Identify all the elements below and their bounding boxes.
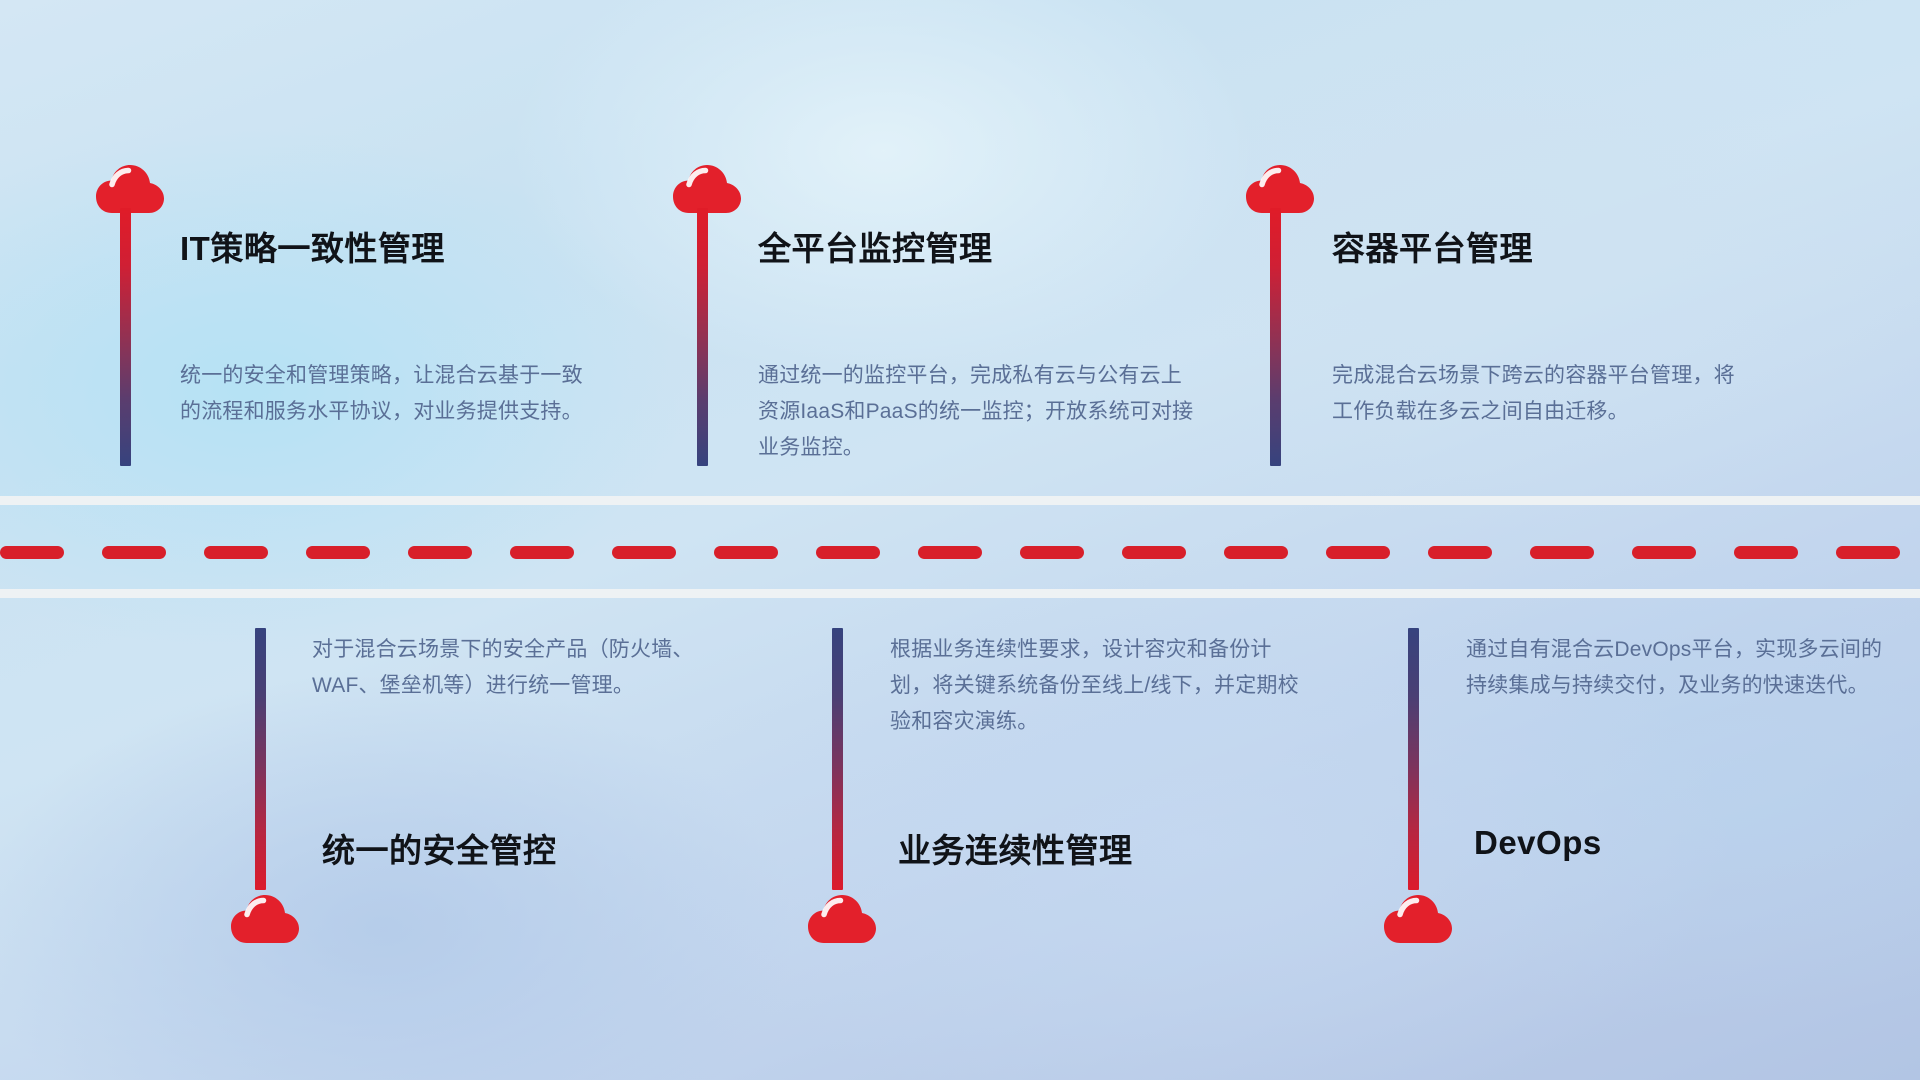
bottom-heading-1: 统一的安全管控 [322,824,557,872]
separator-dash [408,546,472,559]
connector-stem [120,208,131,466]
separator-dash [1020,546,1084,559]
divider-band-top [0,496,1920,505]
divider-band-bottom [0,589,1920,598]
separator-dash [102,546,166,559]
bottom-body-3: 通过自有混合云DevOps平台，实现多云间的持续集成与持续交付，及业务的快速迭代… [1466,632,1886,704]
separator-dash [1530,546,1594,559]
separator-dash [1428,546,1492,559]
separator-dash [714,546,778,559]
bottom-body-2: 根据业务连续性要求，设计容灾和备份计划，将关键系统备份至线上/线下，并定期校验和… [890,632,1310,740]
separator-dash [1224,546,1288,559]
cloud-icon [1383,890,1453,944]
separator-dash [1836,546,1900,559]
separator-dash [204,546,268,559]
separator-dash [612,546,676,559]
separator-dash [0,546,64,559]
separator-dash [1326,546,1390,559]
cloud-icon [672,160,742,214]
bottom-heading-3: DevOps [1474,824,1602,862]
separator-dash [306,546,370,559]
top-body-2: 通过统一的监控平台，完成私有云与公有云上资源IaaS和PaaS的统一监控；开放系… [758,358,1198,466]
cloud-icon [95,160,165,214]
bottom-heading-2: 业务连续性管理 [898,824,1133,872]
separator-dash [918,546,982,559]
connector-stem [832,628,843,890]
cloud-icon [230,890,300,944]
cloud-icon [807,890,877,944]
top-body-3: 完成混合云场景下跨云的容器平台管理，将工作负载在多云之间自由迁移。 [1332,358,1752,430]
infographic-canvas: IT策略一致性管理 统一的安全和管理策略，让混合云基于一致的流程和服务水平协议，… [0,0,1920,1080]
top-heading-3: 容器平台管理 [1332,222,1533,270]
connector-stem [697,208,708,466]
separator-dash [1734,546,1798,559]
red-dashed-separator [0,546,1920,559]
bottom-body-1: 对于混合云场景下的安全产品（防火墙、WAF、堡垒机等）进行统一管理。 [312,632,732,704]
connector-stem [1408,628,1419,890]
cloud-icon [1245,160,1315,214]
separator-dash [510,546,574,559]
top-heading-2: 全平台监控管理 [758,222,993,270]
connector-stem [1270,208,1281,466]
separator-dash [1122,546,1186,559]
top-body-1: 统一的安全和管理策略，让混合云基于一致的流程和服务水平协议，对业务提供支持。 [180,358,600,430]
separator-dash [1632,546,1696,559]
separator-dash [816,546,880,559]
connector-stem [255,628,266,890]
top-heading-1: IT策略一致性管理 [180,222,445,270]
